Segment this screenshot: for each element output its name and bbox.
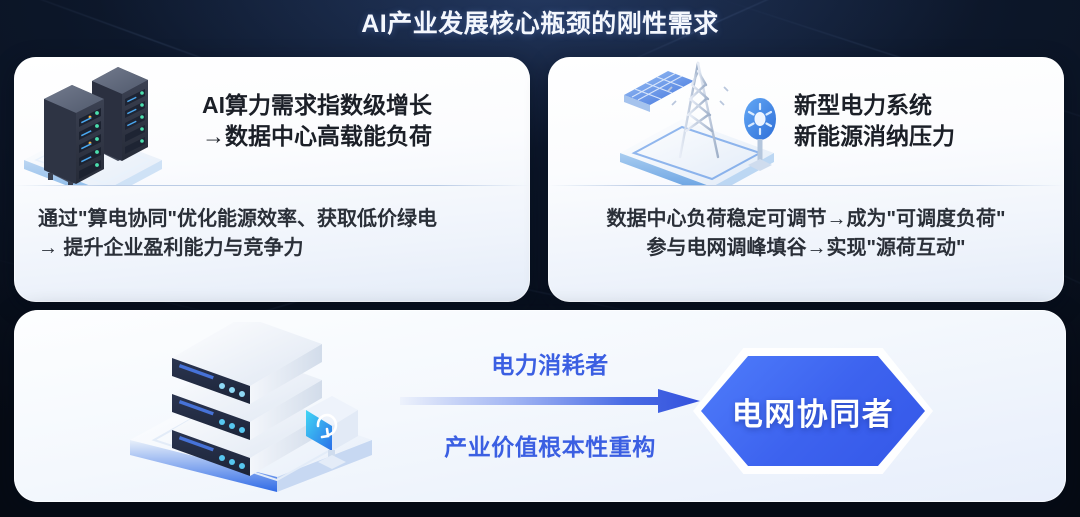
arrow-label-to: 产业价值根本性重构 [400, 428, 700, 462]
transformation-arrow-group: 电力消耗者 产业价值根本性重构 [400, 344, 700, 470]
renewable-power-grid-icon [602, 57, 802, 190]
card-heading: AI算力需求指数级增长 →数据中心高载能负荷 [202, 90, 432, 151]
card-divider [14, 185, 530, 186]
card-heading: 新型电力系统 新能源消纳压力 [794, 90, 955, 151]
card-body-text: 数据中心负荷稳定可调节→成为"可调度负荷" 参与电网调峰填谷→实现"源荷互动" [548, 185, 1064, 263]
result-badge: 电网协同者 [686, 345, 940, 477]
card-body-text: 通过"算电协同"优化能源效率、获取低价绿电 → 提升企业盈利能力与竞争力 [14, 185, 530, 263]
card-ai-compute-demand: AI算力需求指数级增长 →数据中心高载能负荷 通过"算电协同"优化能源效率、获取… [14, 57, 530, 302]
server-racks-icon [14, 57, 204, 190]
card-divider [548, 185, 1064, 186]
datacenter-server-stack-icon [110, 322, 410, 497]
card-new-power-system: 新型电力系统 新能源消纳压力 数据中心负荷稳定可调节→成为"可调度负荷" 参与电… [548, 57, 1064, 302]
arrow-label-from: 电力消耗者 [400, 346, 700, 380]
page-title: AI产业发展核心瓶颈的刚性需求 [0, 2, 1080, 42]
badge-label: 电网协同者 [732, 389, 895, 434]
arrow-icon [400, 388, 700, 414]
card-header: 新型电力系统 新能源消纳压力 [548, 57, 1064, 185]
card-header: AI算力需求指数级增长 →数据中心高载能负荷 [14, 57, 530, 185]
